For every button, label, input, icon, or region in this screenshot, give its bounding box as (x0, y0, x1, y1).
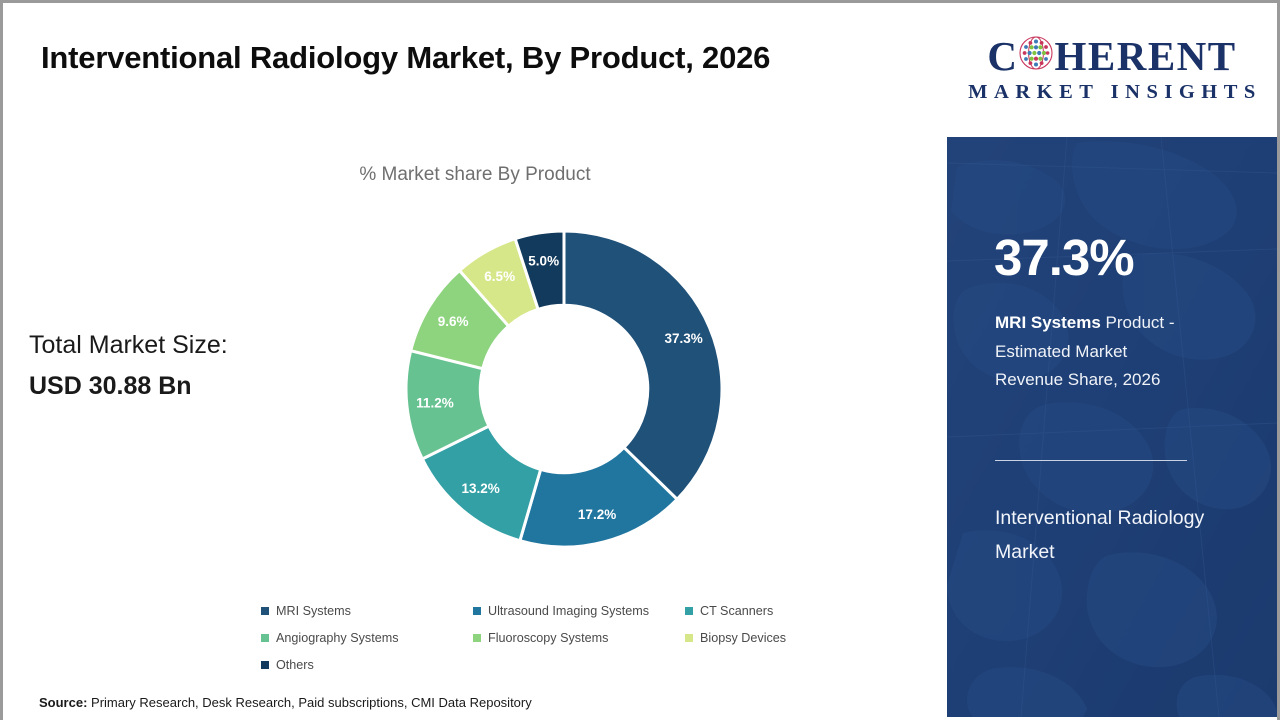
legend-swatch-icon (685, 634, 693, 642)
legend-swatch-icon (473, 634, 481, 642)
panel-horizontal-rule (995, 460, 1187, 461)
donut-slice-label: 11.2% (416, 395, 454, 410)
legend-item[interactable]: CT Scanners (685, 604, 861, 618)
donut-slice-label: 13.2% (462, 481, 500, 496)
highlight-product-name: MRI Systems (995, 313, 1101, 332)
donut-slice-label: 5.0% (528, 253, 559, 268)
chart-legend: MRI SystemsUltrasound Imaging SystemsCT … (261, 597, 861, 678)
logo-tagline: MARKET INSIGHTS (962, 81, 1262, 104)
sidebar-panel: C (947, 3, 1277, 717)
panel-market-name: Interventional Radiology Market (995, 502, 1233, 569)
legend-item-label: Biopsy Devices (700, 631, 786, 645)
logo-wordmark: C (987, 36, 1236, 77)
donut-chart: 37.3%17.2%13.2%11.2%9.6%6.5%5.0% (403, 228, 725, 550)
legend-row: Others (261, 651, 861, 678)
logo-letters-herent: HERENT (1054, 36, 1236, 77)
brand-logo[interactable]: C (947, 3, 1277, 137)
source-text: Primary Research, Desk Research, Paid su… (91, 695, 532, 710)
legend-swatch-icon (473, 607, 481, 615)
logo-letter-c: C (987, 36, 1018, 77)
legend-item-label: Angiography Systems (276, 631, 399, 645)
source-note: Source: Primary Research, Desk Research,… (39, 695, 532, 710)
highlight-panel: 37.3% MRI Systems Product - Estimated Ma… (947, 137, 1277, 717)
legend-item-label: Others (276, 658, 314, 672)
legend-swatch-icon (261, 661, 269, 669)
legend-item[interactable]: Biopsy Devices (685, 631, 861, 645)
page-title: Interventional Radiology Market, By Prod… (41, 33, 871, 83)
highlight-content: 37.3% MRI Systems Product - Estimated Ma… (994, 137, 1254, 717)
legend-item-label: MRI Systems (276, 604, 351, 618)
legend-swatch-icon (685, 607, 693, 615)
chart-subtitle: % Market share By Product (3, 164, 947, 186)
total-market-size-value: USD 30.88 Bn (29, 366, 228, 407)
legend-item[interactable]: Fluoroscopy Systems (473, 631, 685, 645)
legend-item[interactable]: Ultrasound Imaging Systems (473, 604, 685, 618)
legend-swatch-icon (261, 634, 269, 642)
legend-row: Angiography SystemsFluoroscopy SystemsBi… (261, 624, 861, 651)
infographic-page: Interventional Radiology Market, By Prod… (0, 0, 1280, 720)
chart-main-area: Interventional Radiology Market, By Prod… (3, 3, 947, 717)
donut-chart-svg: 37.3%17.2%13.2%11.2%9.6%6.5%5.0% (403, 228, 725, 550)
legend-swatch-icon (261, 607, 269, 615)
legend-item-label: Ultrasound Imaging Systems (488, 604, 649, 618)
source-label: Source: (39, 695, 87, 710)
legend-item[interactable]: Others (261, 658, 473, 672)
donut-slice (564, 231, 722, 499)
donut-slice-label: 6.5% (484, 269, 515, 284)
highlight-percentage: 37.3% (994, 232, 1134, 283)
globe-dots-icon (1019, 36, 1053, 77)
donut-slice-label: 37.3% (664, 331, 702, 346)
legend-item[interactable]: Angiography Systems (261, 631, 473, 645)
total-market-size-block: Total Market Size: USD 30.88 Bn (29, 325, 228, 406)
legend-item[interactable]: MRI Systems (261, 604, 473, 618)
donut-slice-label: 17.2% (578, 507, 616, 522)
total-market-size-label: Total Market Size: (29, 331, 228, 359)
donut-slice-label: 9.6% (438, 314, 469, 329)
legend-item-label: CT Scanners (700, 604, 773, 618)
highlight-description: MRI Systems Product - Estimated Market R… (995, 309, 1200, 395)
legend-item-label: Fluoroscopy Systems (488, 631, 608, 645)
legend-row: MRI SystemsUltrasound Imaging SystemsCT … (261, 597, 861, 624)
